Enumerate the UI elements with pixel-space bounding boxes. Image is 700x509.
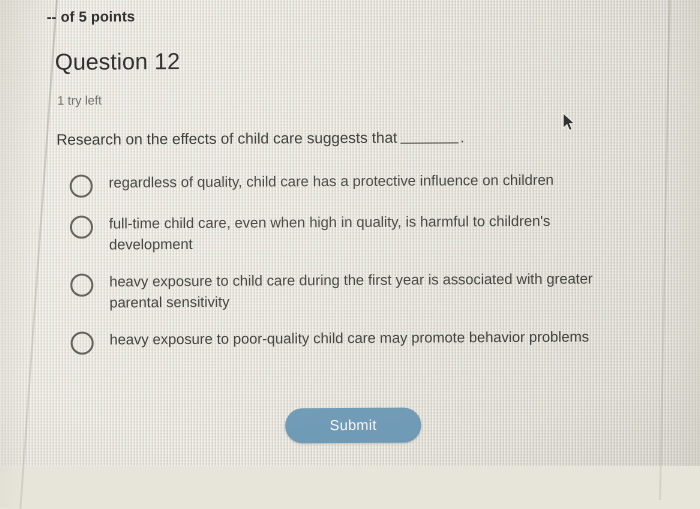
question-stem-period: .	[460, 129, 464, 146]
answer-option-label: heavy exposure to child care during the …	[109, 269, 609, 313]
answer-option-3[interactable]: heavy exposure to child care during the …	[70, 269, 630, 313]
question-blank	[400, 130, 458, 143]
radio-button-icon[interactable]	[70, 216, 93, 239]
tries-left-label: 1 try left	[57, 94, 102, 108]
page-title: Question 12	[55, 48, 180, 76]
points-label: -- of 5 points	[47, 9, 135, 26]
question-stem: Research on the effects of child care su…	[56, 129, 464, 148]
question-stem-text: Research on the effects of child care su…	[56, 130, 397, 149]
answer-option-2[interactable]: full-time child care, even when high in …	[70, 211, 630, 255]
submit-button[interactable]: Submit	[285, 408, 421, 444]
answer-option-4[interactable]: heavy exposure to poor-quality child car…	[71, 327, 631, 354]
answer-option-label: regardless of quality, child care has a …	[109, 171, 554, 194]
answer-option-1[interactable]: regardless of quality, child care has a …	[70, 170, 630, 197]
quiz-question-container: -- of 5 points Question 12 1 try left Re…	[0, 0, 700, 468]
answer-options-list: regardless of quality, child care has a …	[70, 170, 631, 371]
radio-button-icon[interactable]	[70, 274, 93, 297]
radio-button-icon[interactable]	[70, 175, 93, 198]
answer-option-label: heavy exposure to poor-quality child car…	[110, 328, 590, 351]
radio-button-icon[interactable]	[71, 332, 94, 355]
answer-option-label: full-time child care, even when high in …	[109, 211, 609, 255]
